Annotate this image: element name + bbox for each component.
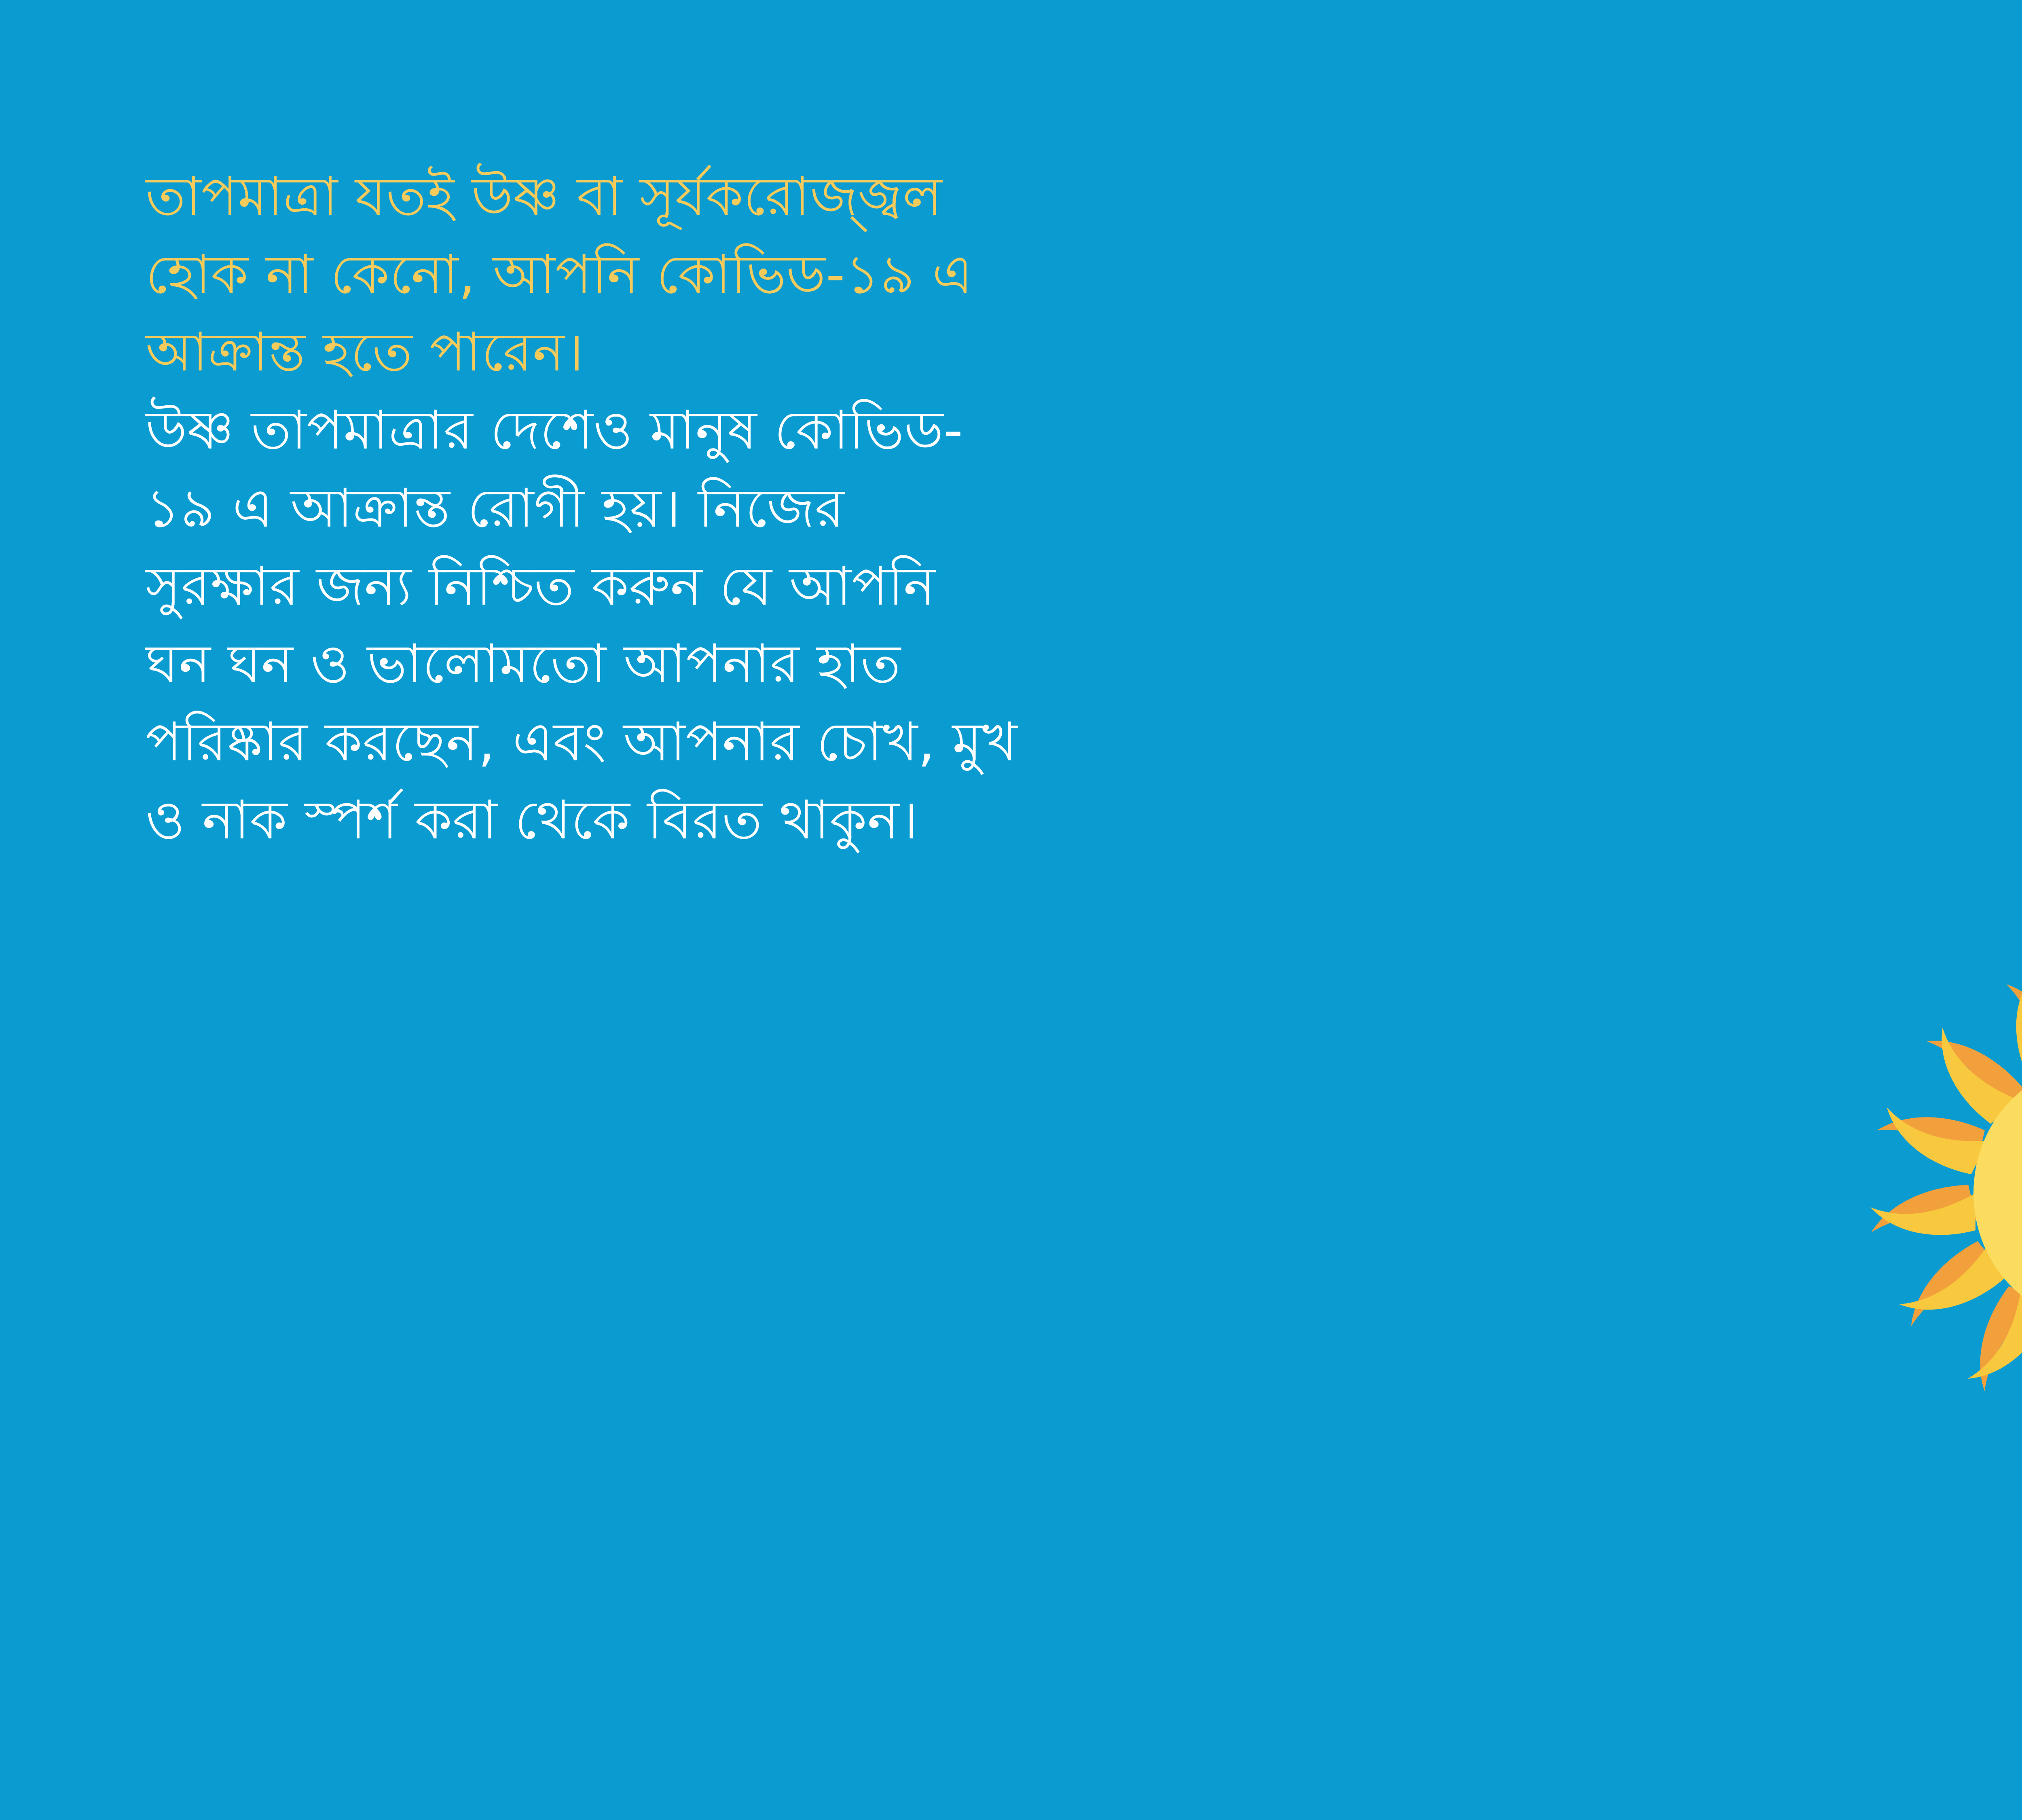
correct-info-line-1: নিজেকে রোদের তাপে বা ২৫C ডিগ্রীর bbox=[1739, 361, 2022, 438]
sun-icon bbox=[1812, 934, 2022, 1452]
fact-line-3: সুরক্ষার জন্য নিশ্চিত করুন যে আপনি bbox=[146, 548, 1682, 626]
fact-line-4: ঘন ঘন ও ভালোমতো আপনার হাত bbox=[146, 625, 1682, 703]
poster-canvas: তাপমাত্রা যতই উষ্ণ বা সূর্যকরোজ্জ্বল হোক… bbox=[0, 0, 2022, 1820]
fact-line-2: ১৯ এ আক্রান্ত রোগী হয়। নিজের bbox=[146, 470, 1682, 548]
fact-line-5: পরিষ্কার করছেন, এবং আপনার চোখ, মুখ bbox=[146, 703, 1682, 781]
left-text-block: তাপমাত্রা যতই উষ্ণ বা সূর্যকরোজ্জ্বল হোক… bbox=[146, 158, 1682, 859]
myth-line-1: তাপমাত্রা যতই উষ্ণ বা সূর্যকরোজ্জ্বল bbox=[146, 158, 1682, 236]
correct-info-heading: সঠিক তথ্যঃ bbox=[1739, 283, 2022, 361]
fact-line-1: উষ্ণ তাপমাত্রার দেশেও মানুষ কোভিড- bbox=[146, 392, 1682, 470]
correct-info-line-3: করোনাভাইরাসের আক্রমণ থেকে রক্ষা bbox=[1739, 515, 2022, 592]
myth-line-3: আক্রান্ত হতে পারেন। bbox=[146, 313, 1682, 392]
fact-line-6: ও নাক স্পর্শ করা থেকে বিরত থাকুন। bbox=[146, 781, 1682, 859]
correct-info-line-4: করা যাবে না। bbox=[1739, 592, 2022, 669]
correct-info-line-2: তাপমাত্রার উপরে রাখলে bbox=[1739, 438, 2022, 515]
footer-bar: World Health Organization #Coronavirus #… bbox=[0, 1513, 2022, 1820]
myth-line-2: হোক না কেনো, আপনি কোভিড-১৯ এ bbox=[146, 236, 1682, 314]
right-text-block: সঠিক তথ্যঃ নিজেকে রোদের তাপে বা ২৫C ডিগ্… bbox=[1739, 283, 2022, 668]
